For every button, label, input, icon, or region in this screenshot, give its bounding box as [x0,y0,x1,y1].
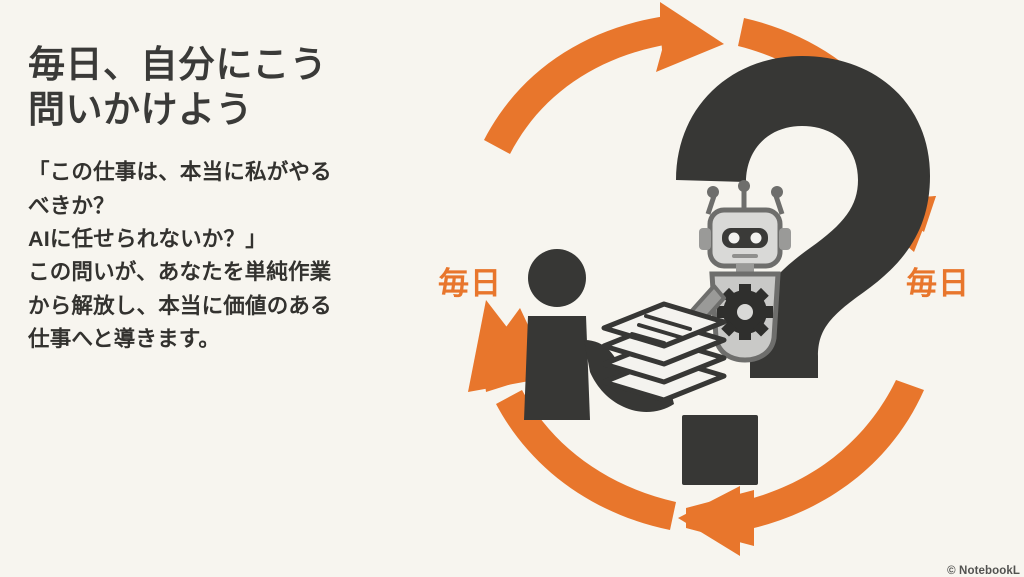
slide-canvas: 毎日、自分にこう 問いかけよう 「この仕事は、本当に私がやる べきか？ AIに任… [0,0,1024,574]
text-column: 毎日、自分にこう 問いかけよう 「この仕事は、本当に私がやる べきか？ AIに任… [28,42,420,356]
cycle-diagram: 毎日 毎日 [424,0,1024,574]
body-copy: 「この仕事は、本当に私がやる べきか？ AIに任せられないか？」 この問いが、あ… [28,156,420,356]
gear-icon [717,284,773,340]
watermark: © NotebookL [947,565,1020,577]
page-title: 毎日、自分にこう 問いかけよう [28,42,420,132]
cycle-label-right: 毎日 [906,268,970,299]
documents-icon [604,304,724,400]
cycle-label-left: 毎日 [438,268,502,299]
